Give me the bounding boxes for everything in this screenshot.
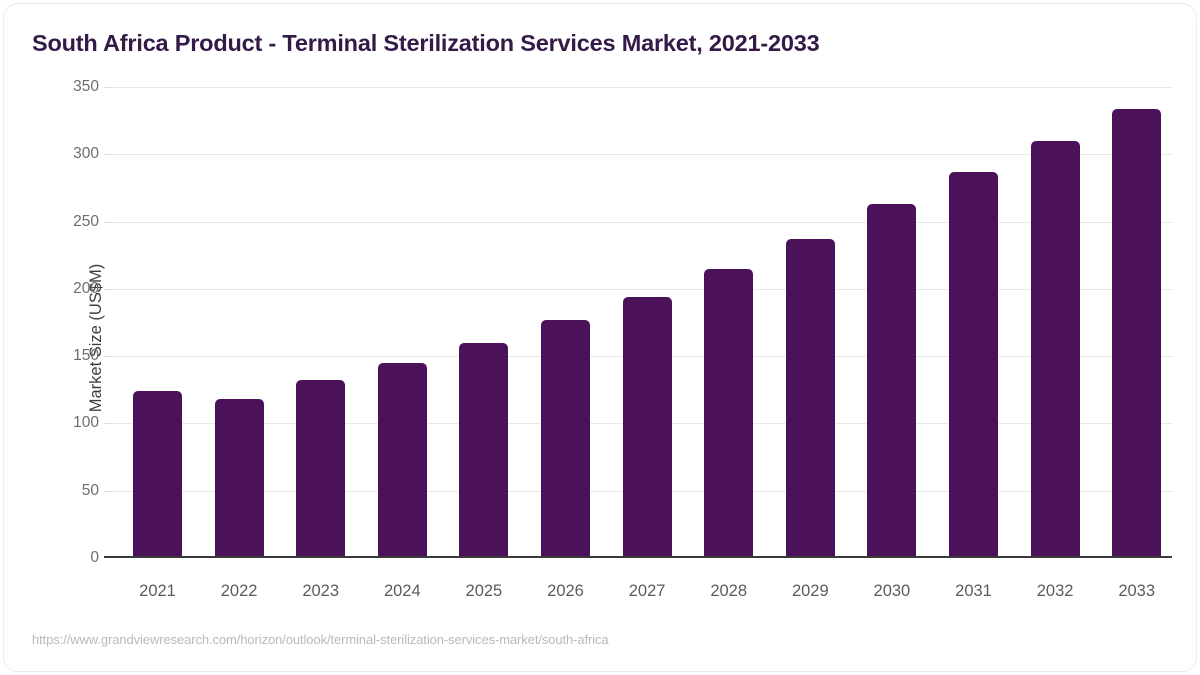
y-axis-tick-label: 150 [29,347,99,365]
y-axis-tick-mark [104,491,113,492]
gridline [113,222,1172,223]
y-axis-tick-label: 100 [29,414,99,432]
x-axis-tick-label: 2026 [521,582,611,601]
bar[interactable] [215,399,264,558]
y-axis-tick-label: 300 [29,145,99,163]
x-axis-tick-label: 2022 [194,582,284,601]
x-axis-tick-label: 2025 [439,582,529,601]
x-axis-tick-label: 2024 [357,582,447,601]
x-axis-tick-label: 2032 [1010,582,1100,601]
chart-card: South Africa Product - Terminal Steriliz… [4,4,1196,671]
x-axis-tick-label: 2028 [684,582,774,601]
x-axis-tick-label: 2021 [113,582,203,601]
gridline [113,289,1172,290]
bar[interactable] [378,363,427,558]
y-axis-tick-label: 0 [29,549,99,567]
plot-area [113,87,1172,558]
x-axis-tick-label: 2030 [847,582,937,601]
y-axis-tick-mark [104,87,113,88]
y-axis-tick-label: 350 [29,78,99,96]
x-axis-line [104,556,1172,558]
bar[interactable] [704,269,753,558]
x-axis-tick-label: 2023 [276,582,366,601]
bar[interactable] [541,320,590,558]
bar[interactable] [296,380,345,558]
gridline [113,87,1172,88]
x-axis-tick-label: 2031 [929,582,1019,601]
x-axis-tick-label: 2027 [602,582,692,601]
bar[interactable] [949,172,998,558]
y-axis-tick-mark [104,289,113,290]
chart-title: South Africa Product - Terminal Steriliz… [32,30,820,57]
y-axis-tick-label: 50 [29,482,99,500]
x-axis-tick-label: 2029 [765,582,855,601]
bar[interactable] [786,239,835,558]
gridline [113,154,1172,155]
y-axis-tick-mark [104,356,113,357]
y-axis-tick-label: 250 [29,213,99,231]
bar[interactable] [623,297,672,558]
bar[interactable] [867,204,916,558]
y-axis-tick-mark [104,423,113,424]
bar[interactable] [1031,141,1080,558]
y-axis-tick-mark [104,154,113,155]
y-axis-tick-label: 200 [29,280,99,298]
y-axis-tick-mark [104,222,113,223]
bar[interactable] [459,343,508,558]
bar[interactable] [133,391,182,558]
bar[interactable] [1112,109,1161,558]
source-url[interactable]: https://www.grandviewresearch.com/horizo… [32,632,609,647]
x-axis-tick-label: 2033 [1092,582,1182,601]
